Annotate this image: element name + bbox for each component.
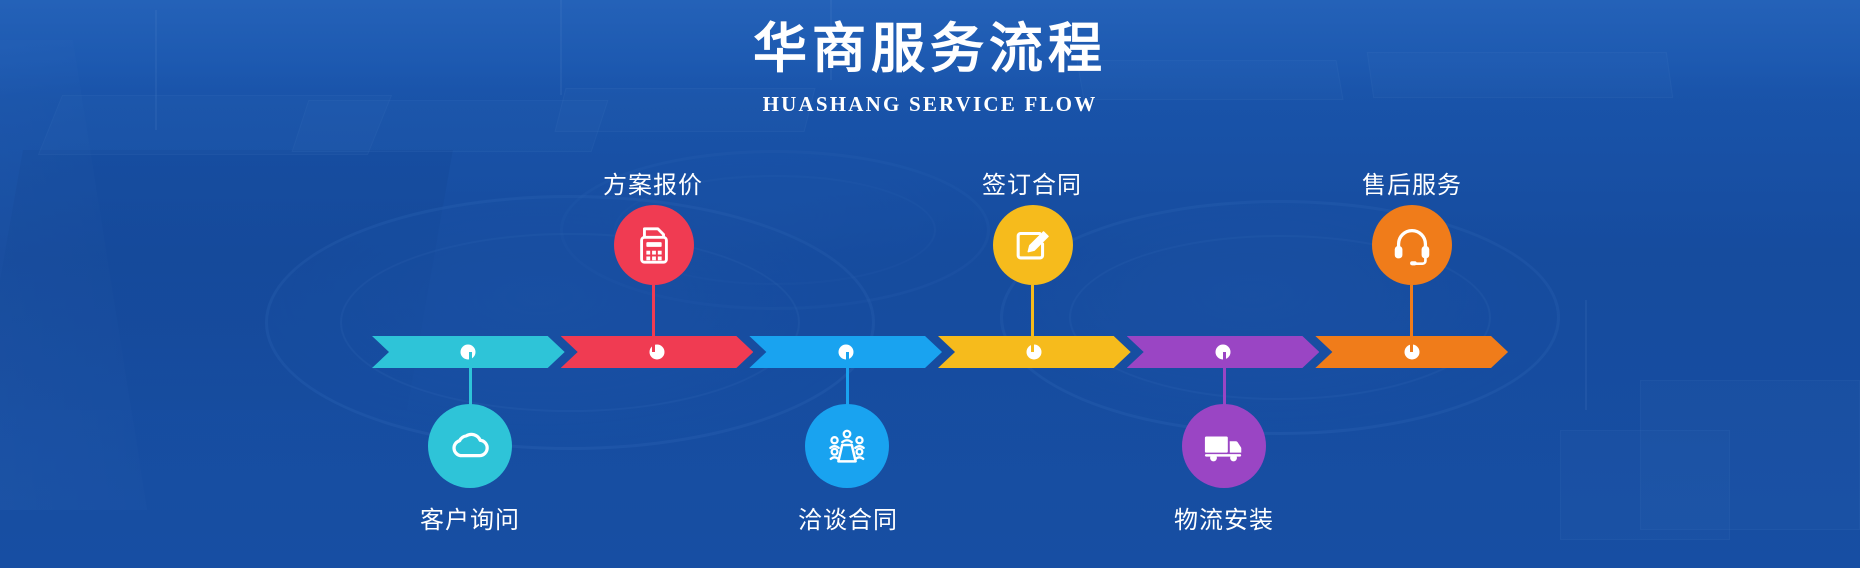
service-flow-banner: 华商服务流程 HUASHANG SERVICE FLOW 客户询问 — [0, 0, 1860, 568]
flow-icon-circle-4[interactable] — [993, 205, 1073, 285]
flow-label-3: 洽谈合同 — [728, 500, 968, 535]
flow-icon-circle-1[interactable] — [428, 404, 512, 488]
flow-icon-circle-6[interactable] — [1372, 205, 1452, 285]
flow-label-1: 客户询问 — [350, 500, 590, 535]
truck-icon — [1200, 425, 1248, 467]
flow-icon-circle-5[interactable] — [1182, 404, 1266, 488]
flow-connector-2 — [652, 285, 655, 352]
flow-label-5: 物流安装 — [1104, 500, 1344, 535]
flow-segment-4[interactable] — [938, 336, 1131, 368]
flow-icon-circle-2[interactable] — [614, 205, 694, 285]
cloud-icon — [447, 423, 493, 469]
flow-connector-1 — [469, 352, 472, 408]
flow-segment-2[interactable] — [561, 336, 754, 368]
sign-pen-icon — [1011, 223, 1055, 267]
flow-connector-3 — [846, 352, 849, 408]
flow-segment-dot — [1027, 345, 1042, 360]
flow-connector-5 — [1223, 352, 1226, 408]
flow-icon-circle-3[interactable] — [805, 404, 889, 488]
flow-connector-6 — [1410, 285, 1413, 352]
flow-arrow-bar — [372, 336, 1504, 368]
process-flow: 客户询问 方案报价 — [0, 0, 1860, 568]
flow-label-4: 签订合同 — [912, 165, 1152, 200]
flow-label-2: 方案报价 — [533, 165, 773, 200]
quote-calculator-icon — [633, 222, 675, 268]
flow-label-6: 售后服务 — [1292, 165, 1532, 200]
headset-icon — [1389, 222, 1435, 268]
meeting-people-icon — [824, 423, 870, 469]
flow-connector-4 — [1031, 285, 1034, 352]
